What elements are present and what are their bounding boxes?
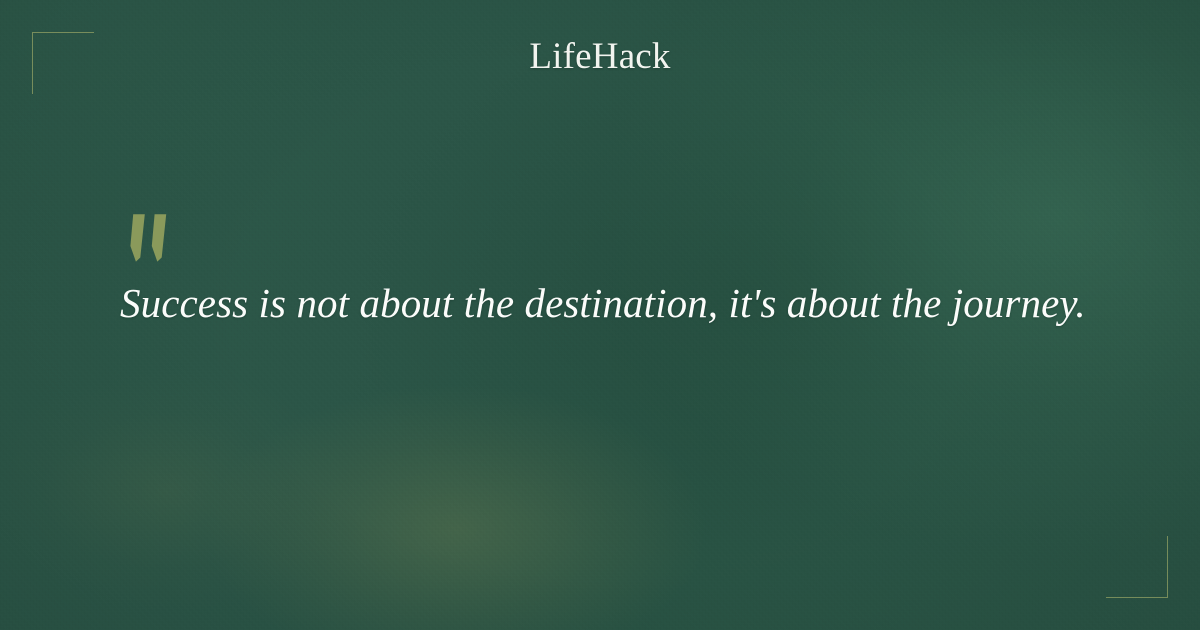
corner-bracket-bottom-right-icon	[1106, 536, 1168, 598]
brand-header: LifeHack	[0, 0, 1200, 112]
quote-text: Success is not about the destination, it…	[120, 278, 1100, 330]
brand-logo-text: LifeHack	[529, 38, 670, 75]
quote-card: LifeHack Success is not about the destin…	[0, 0, 1200, 630]
quote-block: Success is not about the destination, it…	[120, 212, 1100, 330]
quote-mark-icon	[129, 212, 175, 264]
